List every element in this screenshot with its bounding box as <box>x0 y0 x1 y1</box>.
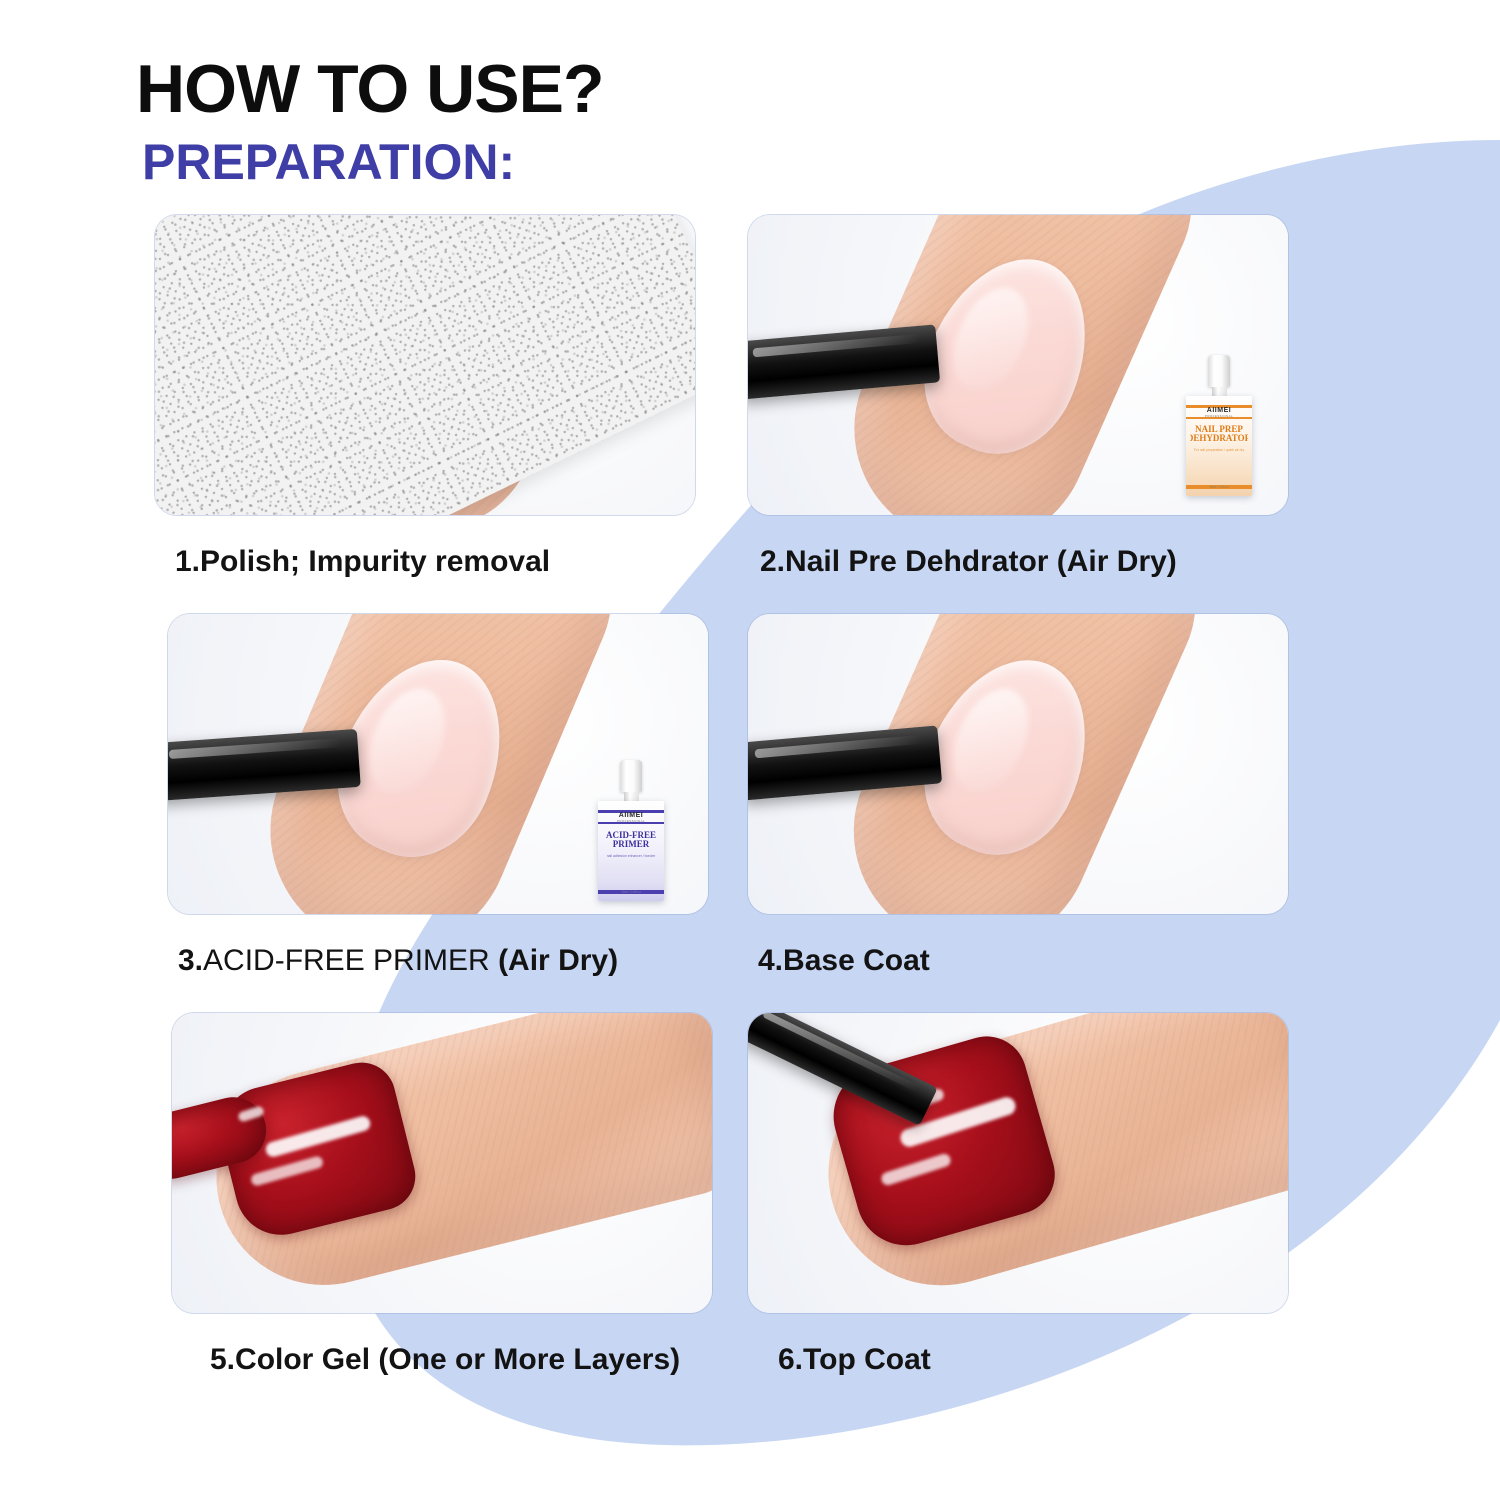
step-3-photo: AIIMEI PROFESSIONAL ACID-FREE PRIMER nai… <box>168 614 708 914</box>
steps-row-1: 1.Polish; Impurity removal <box>0 215 1500 579</box>
bottle-brand-sub: PROFESSIONAL <box>617 819 645 823</box>
step-4-label: Base Coat <box>783 944 930 977</box>
step-5-number: 5. <box>210 1343 235 1376</box>
step-2: AIIMEI PROFESSIONAL NAIL PREP DEHYDRATOR… <box>748 215 1288 579</box>
page-title: HOW TO USE? <box>136 55 604 123</box>
acid-free-primer-bottle: AIIMEI PROFESSIONAL ACID-FREE PRIMER nai… <box>588 760 674 901</box>
step-6-number: 6. <box>778 1343 803 1376</box>
step-2-label: Nail Pre Dehdrator (Air Dry) <box>785 545 1177 578</box>
step-3-number: 3. <box>178 944 203 977</box>
step-5: 5.Color Gel (One or More Layers) <box>172 1013 712 1377</box>
step-1-caption: 1.Polish; Impurity removal <box>155 545 695 579</box>
step-4-caption: 4.Base Coat <box>748 944 1288 978</box>
step-1-number: 1. <box>175 545 200 578</box>
step-2-caption: 2.Nail Pre Dehdrator (Air Dry) <box>748 545 1288 579</box>
steps-grid: 1.Polish; Impurity removal <box>0 215 1500 1377</box>
step-3-label-regular: ACID-FREE PRIMER <box>203 944 498 977</box>
bottle-description: For nail preparation / quick air dry <box>1192 449 1247 453</box>
step-4: 4.Base Coat <box>748 614 1288 978</box>
step-2-photo: AIIMEI PROFESSIONAL NAIL PREP DEHYDRATOR… <box>748 215 1288 515</box>
step-5-label: Color Gel (One or More Layers) <box>235 1343 680 1376</box>
step-6-caption: 6.Top Coat <box>748 1343 1288 1377</box>
steps-row-3: 5.Color Gel (One or More Layers) 6.Top C… <box>0 1013 1500 1377</box>
step-6-photo <box>748 1013 1288 1313</box>
bottle-volume: 15ml / 0.5fl.oz <box>602 890 660 894</box>
step-1-photo <box>155 215 695 515</box>
step-1-label: Polish; Impurity removal <box>200 545 550 578</box>
bottle-description: nail adhesion enhancer / bonder <box>605 855 657 859</box>
step-3: AIIMEI PROFESSIONAL ACID-FREE PRIMER nai… <box>168 614 708 978</box>
bottle-brand-sub: PROFESSIONAL <box>1205 414 1233 418</box>
step-1: 1.Polish; Impurity removal <box>155 215 695 579</box>
bottle-volume: 15ml / 0.5fl.oz <box>1190 485 1248 489</box>
bottle-product-name: NAIL PREP DEHYDRATOR <box>1190 425 1248 444</box>
step-6-label: Top Coat <box>803 1343 931 1376</box>
step-3-caption: 3.ACID-FREE PRIMER (Air Dry) <box>168 944 708 978</box>
step-3-label-bold: (Air Dry) <box>498 944 618 977</box>
steps-row-2: AIIMEI PROFESSIONAL ACID-FREE PRIMER nai… <box>0 614 1500 978</box>
step-5-caption: 5.Color Gel (One or More Layers) <box>172 1343 712 1377</box>
bottle-product-name: ACID-FREE PRIMER <box>602 831 660 850</box>
bottle-brand: AIIMEI <box>619 812 643 819</box>
page-heading: HOW TO USE? PREPARATION: <box>136 55 604 187</box>
step-4-photo <box>748 614 1288 914</box>
page-subtitle: PREPARATION: <box>136 123 604 187</box>
step-4-number: 4. <box>758 944 783 977</box>
step-2-number: 2. <box>760 545 785 578</box>
step-5-photo <box>172 1013 712 1313</box>
nail-prep-dehydrator-bottle: AIIMEI PROFESSIONAL NAIL PREP DEHYDRATOR… <box>1176 355 1262 496</box>
step-6: 6.Top Coat <box>748 1013 1288 1377</box>
bottle-brand: AIIMEI <box>1207 407 1231 414</box>
